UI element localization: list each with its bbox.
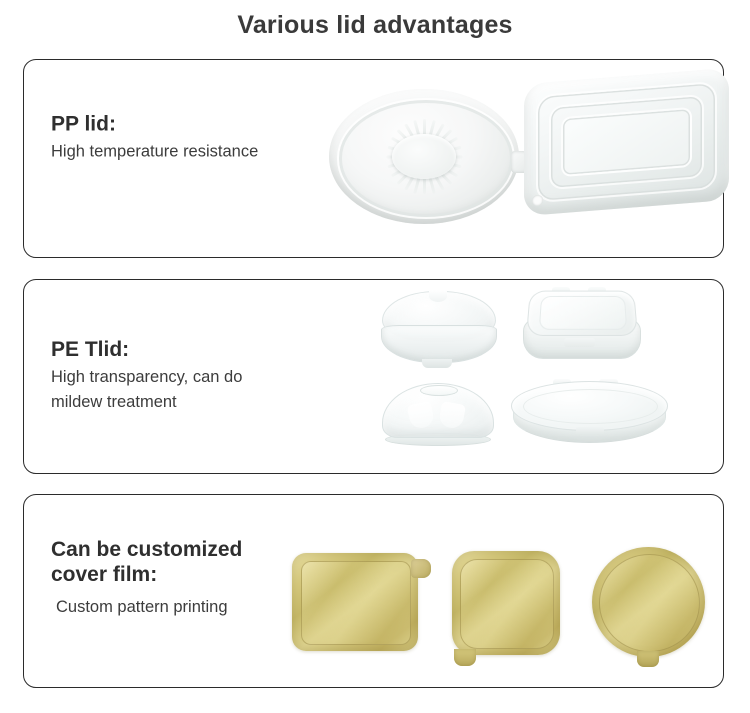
panel-pe-tlid-heading: PE Tlid: (51, 337, 341, 361)
square-gold-foil-seal-image (452, 551, 560, 655)
oval-pe-lid-notch (576, 427, 604, 434)
round-gold-foil-plate (592, 547, 705, 657)
rectangular-gold-foil-tab (411, 559, 431, 578)
panel-cover-film-text-block: Can be customized cover film: Custom pat… (51, 538, 341, 620)
panel-pp-lid-heading: PP lid: (51, 112, 341, 136)
dome-pe-lid-straw-hole (420, 385, 457, 396)
dome-pe-lid-base-ring (385, 433, 490, 446)
round-gold-foil-seal-image (592, 547, 705, 657)
square-pe-lid-image (521, 289, 641, 361)
oval-pe-lid-image (511, 381, 666, 447)
round-gold-foil-tab (637, 651, 659, 667)
square-gold-foil-plate (452, 551, 560, 655)
panel-pp-lid-text-block: PP lid: High temperature resistance (51, 112, 341, 165)
round-pp-lid-center (392, 134, 457, 180)
square-gold-foil-inner-panel (460, 559, 555, 648)
panel-pp-lid-description: High temperature resistance (51, 140, 341, 166)
square-pe-lid-tab-left (552, 287, 570, 296)
square-pe-lid-top (526, 291, 638, 336)
panel-cover-film-heading: Can be customized cover film: (51, 538, 341, 587)
square-pe-lid-skirt (523, 319, 640, 358)
page-title: Various lid advantages (0, 11, 750, 40)
rectangular-pp-lid-nub (532, 194, 543, 206)
oval-pe-lid-tab-right (599, 379, 618, 386)
dome-pe-lid-cap (382, 383, 494, 438)
heart-pe-lid-notch (429, 290, 448, 302)
round-pp-lid-image (329, 89, 519, 224)
round-pp-lid-tab (511, 151, 533, 173)
heart-pe-lid-dome (382, 291, 495, 343)
heart-pe-lid-base (381, 325, 497, 363)
panel-cover-film-description: Custom pattern printing (51, 595, 341, 621)
panel-pe-tlid-text-block: PE Tlid: High transparency, can do milde… (51, 337, 341, 415)
dome-pe-lid-image (382, 381, 492, 446)
square-gold-foil-tab (454, 649, 476, 666)
oval-pe-lid-tab-left (553, 379, 572, 386)
panel-pp-lid: PP lid: High temperature resistance (23, 59, 724, 258)
oval-pe-lid-skirt (513, 401, 667, 443)
heart-pe-lid-image (380, 289, 496, 364)
round-pp-lid-rim (337, 98, 516, 218)
panel-pe-tlid-description: High transparency, can do mildew treatme… (51, 365, 341, 416)
oval-pe-lid-top (511, 381, 668, 431)
square-pe-lid-notch (564, 338, 595, 347)
rectangular-pp-lid-body (524, 68, 729, 216)
rectangular-pp-lid-image (524, 68, 729, 216)
round-gold-foil-inner-panel (599, 554, 700, 653)
round-pp-lid-disc (329, 89, 519, 224)
square-pe-lid-tab-right (588, 287, 606, 296)
heart-pe-lid-foot (422, 359, 452, 368)
panel-cover-film: Can be customized cover film: Custom pat… (23, 494, 724, 688)
panel-pe-tlid: PE Tlid: High transparency, can do milde… (23, 279, 724, 474)
